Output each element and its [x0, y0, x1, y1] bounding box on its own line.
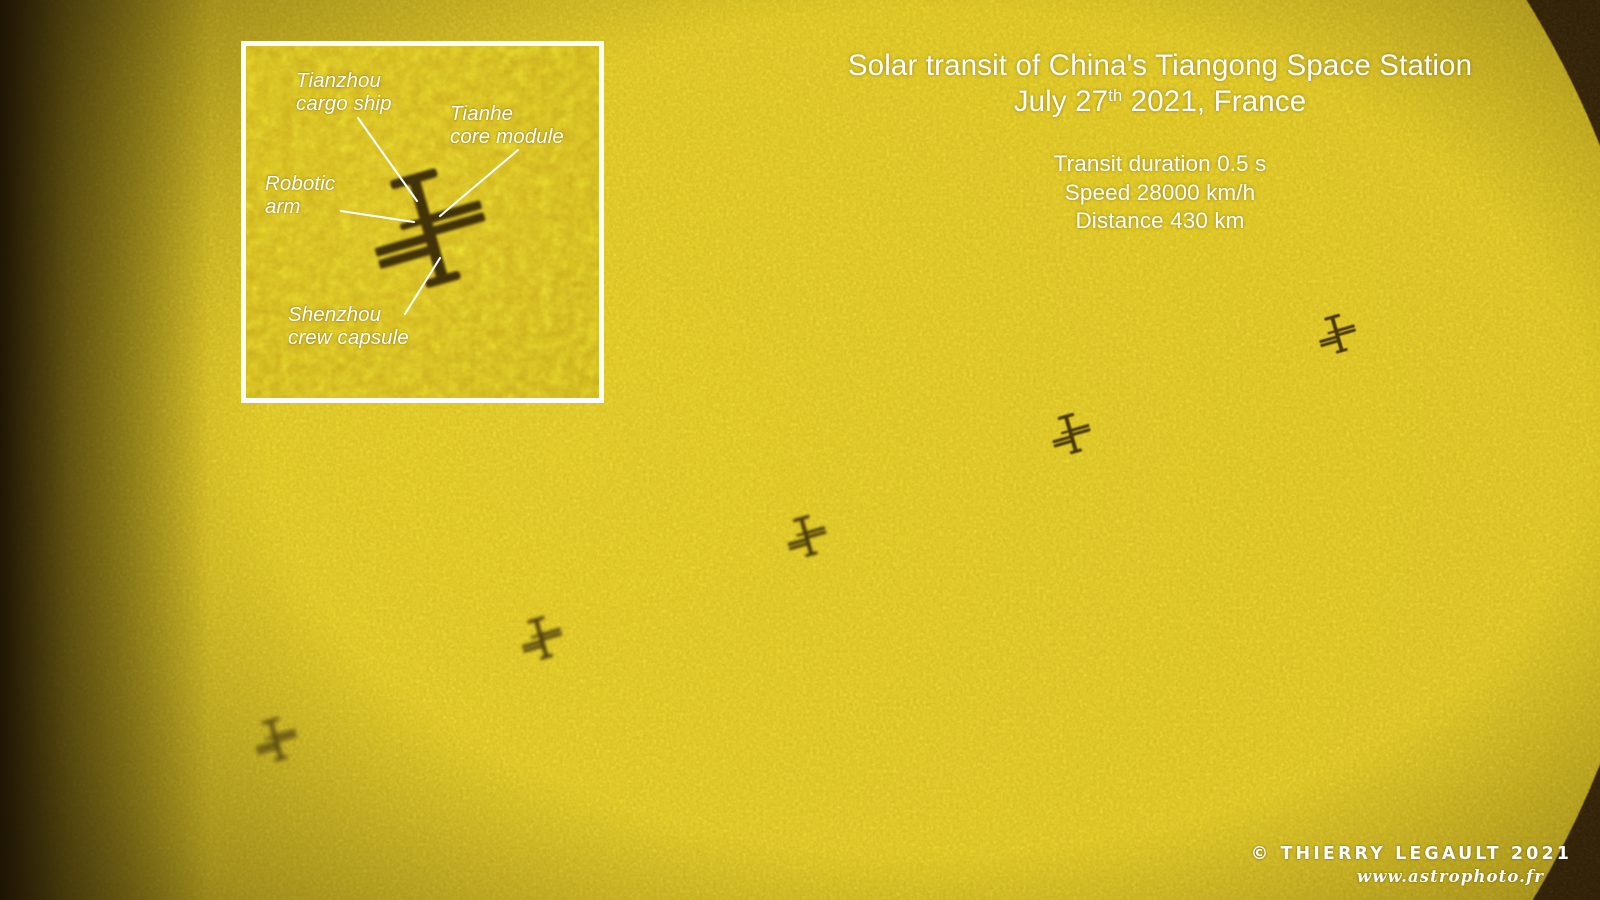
title-line-2: July 27th 2021, France	[780, 84, 1540, 120]
inset-label-tianzhou: Tianzhou cargo ship	[296, 70, 392, 116]
fact-speed: Speed 28000 km/h	[780, 179, 1540, 208]
date-prefix: July 27	[1014, 85, 1109, 118]
solar-transit-photograph: Tianzhou cargo ship Tianhe core module R…	[0, 0, 1600, 900]
photographer-credit: © THIERRY LEGAULT 2021 www.astrophoto.fr	[1251, 844, 1572, 886]
title-line-1: Solar transit of China's Tiangong Space …	[780, 48, 1540, 84]
inset-label-shenzhou: Shenzhou crew capsule	[288, 304, 409, 350]
date-suffix: 2021, France	[1122, 85, 1306, 118]
title-block: Solar transit of China's Tiangong Space …	[780, 48, 1540, 236]
website-line: www.astrophoto.fr	[1251, 867, 1544, 886]
transit-facts: Transit duration 0.5 s Speed 28000 km/h …	[780, 150, 1540, 236]
date-ordinal-suffix: th	[1108, 86, 1122, 105]
fact-duration: Transit duration 0.5 s	[780, 150, 1540, 179]
inset-label-tianhe: Tianhe core module	[450, 103, 564, 149]
magnified-inset-panel: Tianzhou cargo ship Tianhe core module R…	[241, 41, 604, 403]
copyright-line: © THIERRY LEGAULT 2021	[1251, 844, 1572, 864]
inset-label-robotic-arm: Robotic arm	[265, 173, 335, 219]
fact-distance: Distance 430 km	[780, 207, 1540, 236]
